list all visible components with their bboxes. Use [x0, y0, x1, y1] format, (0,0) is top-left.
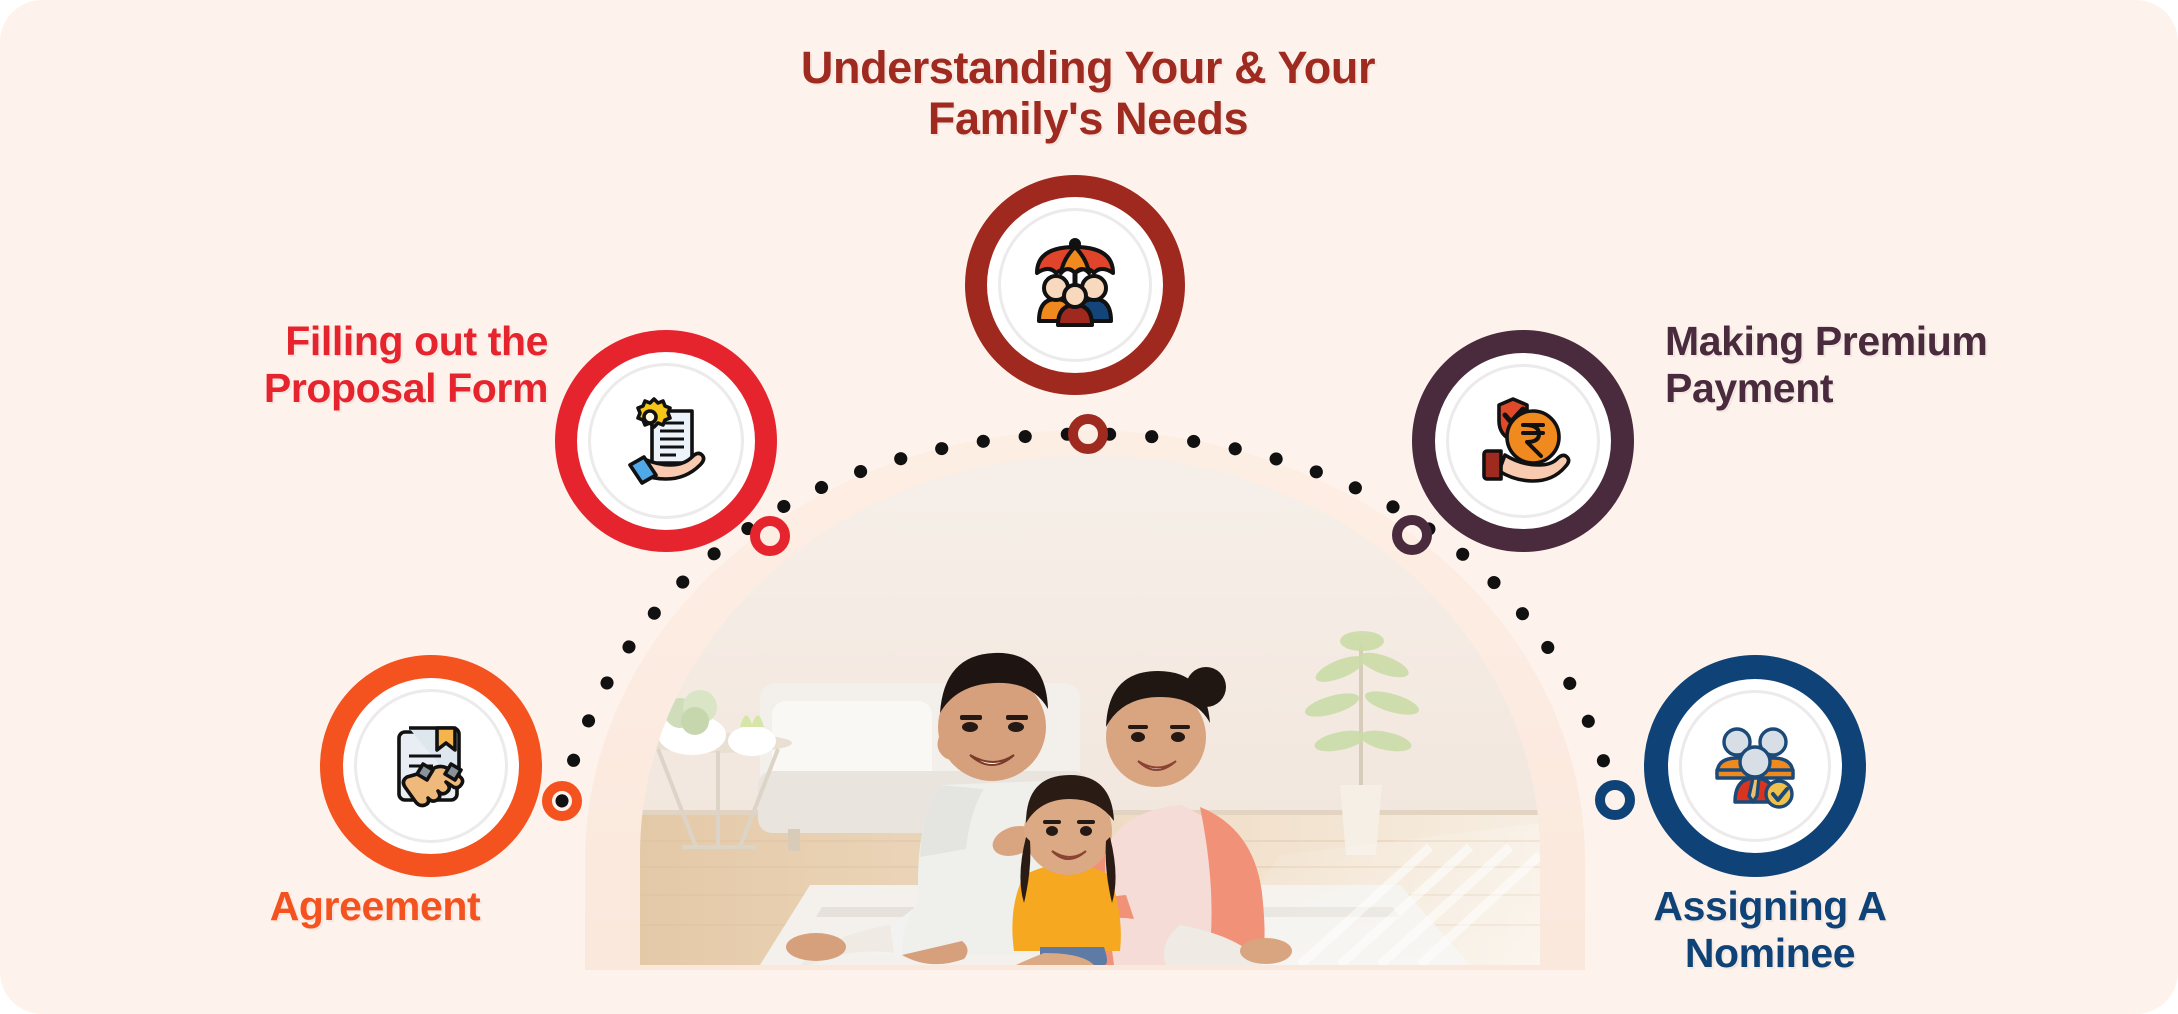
label-line-1: Agreement: [200, 883, 550, 930]
badge-inner-circle: [1446, 364, 1600, 518]
step-badge-agreement[interactable]: [320, 655, 542, 877]
marker-assigning-nominee: [1600, 785, 1630, 815]
marker-agreement: [547, 786, 577, 816]
infographic-canvas: Understanding Your & Your Family's Needs…: [0, 0, 2178, 1014]
umbrella-family-icon: [1023, 233, 1127, 337]
label-agreement: Agreement: [200, 883, 550, 930]
step-badge-proposal-form[interactable]: [555, 330, 777, 552]
document-handshake-icon: [379, 714, 483, 818]
label-line-2: Family's Needs: [768, 93, 1408, 144]
badge-inner-circle: [588, 363, 744, 519]
label-premium-payment: Making Premium Payment: [1665, 318, 2085, 411]
label-line-1: Making Premium: [1665, 318, 2085, 365]
label-understanding-needs: Understanding Your & Your Family's Needs: [768, 42, 1408, 145]
step-badge-assigning-nominee[interactable]: [1644, 655, 1866, 877]
label-line-2: Nominee: [1610, 930, 1930, 977]
label-line-1: Filling out the: [150, 318, 548, 365]
people-group-check-icon: [1703, 714, 1807, 818]
badge-inner-circle: [1679, 690, 1831, 842]
hand-rupee-coin-shield-icon: [1471, 389, 1575, 493]
label-assigning-nominee: Assigning A Nominee: [1610, 883, 1930, 976]
label-line-2: Proposal Form: [150, 365, 548, 412]
badge-inner-circle: [998, 208, 1152, 362]
badge-inner-circle: [354, 689, 508, 843]
step-badge-understanding-needs[interactable]: [965, 175, 1185, 395]
step-badge-premium-payment[interactable]: [1412, 330, 1634, 552]
label-line-1: Understanding Your & Your: [768, 42, 1408, 93]
label-line-1: Assigning A: [1610, 883, 1930, 930]
hand-document-gear-icon: [614, 389, 718, 493]
label-line-2: Payment: [1665, 365, 2085, 412]
label-proposal-form: Filling out the Proposal Form: [150, 318, 548, 411]
